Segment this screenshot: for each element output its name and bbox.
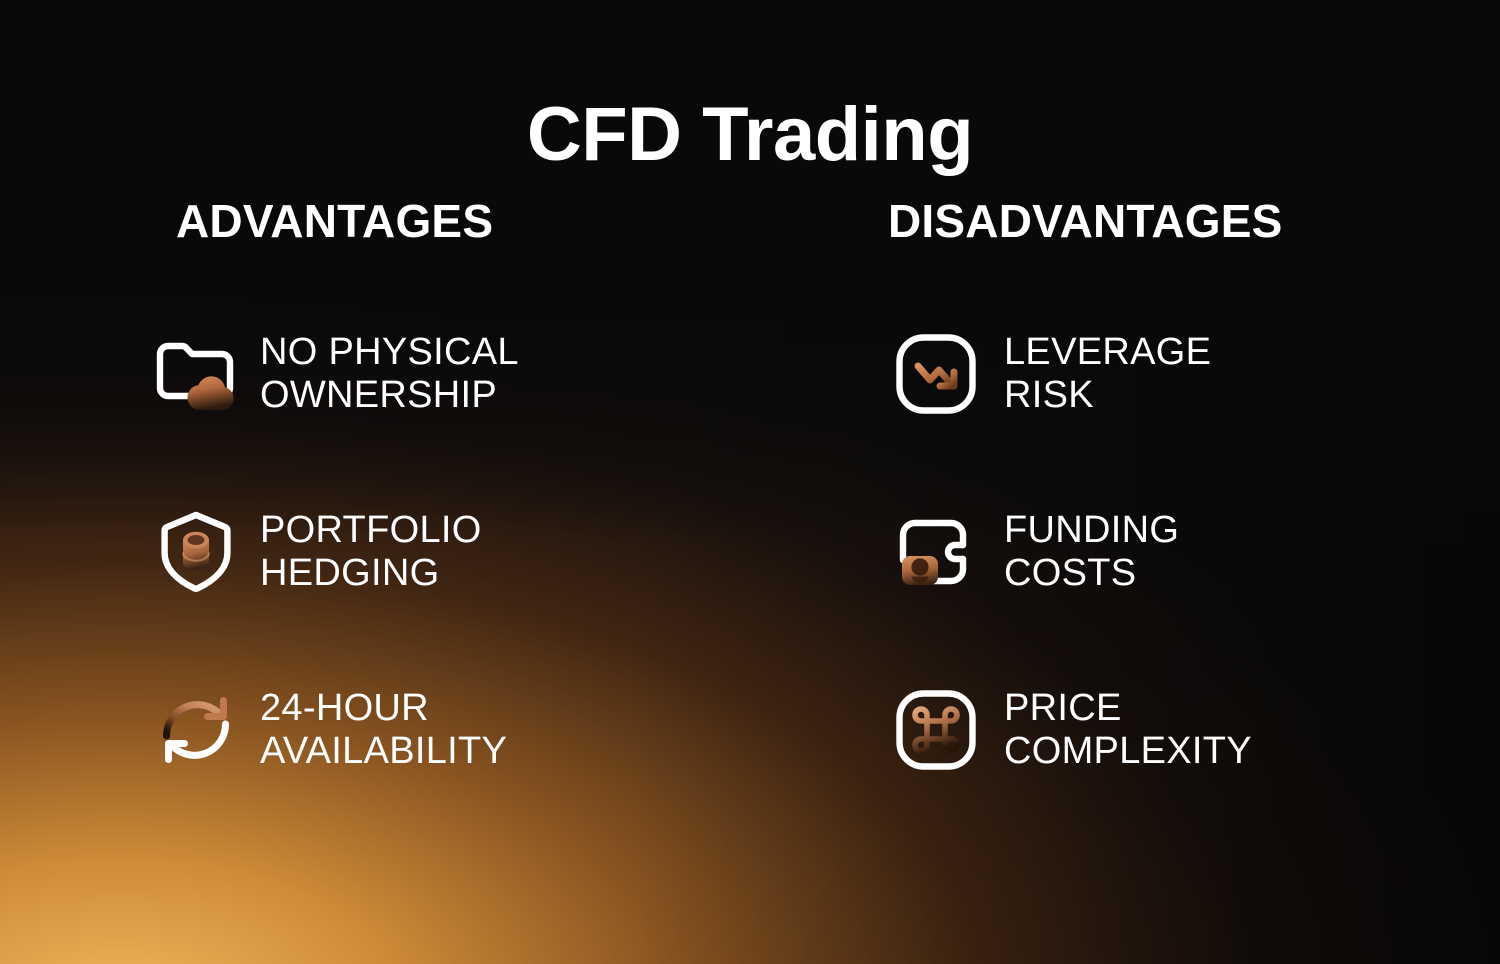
declining-chart-icon	[888, 328, 984, 420]
folder-cloud-icon	[148, 328, 244, 420]
comparison-columns: ADVANTAGES	[0, 198, 1500, 776]
poster-content: CFD Trading ADVANTAGES	[0, 0, 1500, 964]
advantages-list: NO PHYSICAL OWNERSHIP	[148, 328, 750, 776]
list-item-label: PORTFOLIO HEDGING	[260, 509, 482, 596]
shield-database-icon	[148, 506, 244, 598]
column-header-advantages: ADVANTAGES	[176, 198, 750, 244]
command-loop-icon	[888, 684, 984, 776]
disadvantages-list: LEVERAGE RISK	[888, 328, 1500, 776]
list-item-label: FUNDING COSTS	[1004, 509, 1179, 596]
page-title: CFD Trading	[0, 95, 1500, 175]
list-item-label: LEVERAGE RISK	[1004, 331, 1211, 418]
wallet-coin-icon	[888, 506, 984, 598]
column-advantages: ADVANTAGES	[0, 198, 750, 776]
list-item: 24-HOUR AVAILABILITY	[148, 684, 750, 776]
list-item-label: PRICE COMPLEXITY	[1004, 687, 1252, 774]
list-item: NO PHYSICAL OWNERSHIP	[148, 328, 750, 420]
list-item: PORTFOLIO HEDGING	[148, 506, 750, 598]
list-item: LEVERAGE RISK	[888, 328, 1500, 420]
infographic-poster: CFD Trading ADVANTAGES	[0, 0, 1500, 964]
column-header-disadvantages: DISADVANTAGES	[888, 198, 1500, 244]
list-item-label: 24-HOUR AVAILABILITY	[260, 687, 507, 774]
list-item: FUNDING COSTS	[888, 506, 1500, 598]
refresh-cycle-icon	[148, 684, 244, 776]
column-disadvantages: DISADVANTAGES	[750, 198, 1500, 776]
list-item-label: NO PHYSICAL OWNERSHIP	[260, 331, 519, 418]
list-item: PRICE COMPLEXITY	[888, 684, 1500, 776]
